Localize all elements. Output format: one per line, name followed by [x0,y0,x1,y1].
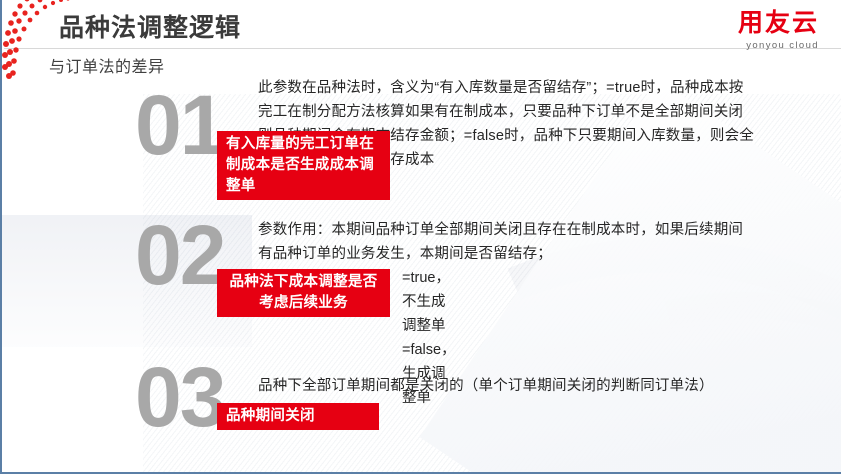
slide-canvas: 品种法调整逻辑 与订单法的差异 用友云 yonyou cloud 01 此参数在… [0,0,841,474]
brand-name-cn: 用友云 [738,11,819,36]
dotted-arc-icon [0,0,92,94]
header-divider [4,48,841,49]
block-number-01: 01 [135,83,224,167]
block-tag-02: 品种法下成本调整是否考虑后续业务 [217,269,390,317]
brand-logo: 用友云 yonyou cloud [738,11,819,51]
block-number-03: 03 [135,355,224,439]
block-tag-03: 品种期间关闭 [217,403,379,430]
slide-header: 品种法调整逻辑 与订单法的差异 [2,0,841,62]
brand-name-en: yonyou cloud [738,40,819,51]
block-body-03: 品种下全部订单期间都是关闭的（单个订单期间关闭的判断同订单法） [258,374,798,398]
block-number-02: 02 [135,213,224,297]
block-tag-01: 有入库量的完工订单在制成本是否生成成本调整单 [217,131,390,200]
block-value-true-02: =true，不生成调整单 [402,266,456,338]
block-body-02: 参数作用：本期间品种订单全部期间关闭且存在在制成本时，如果后续期间有品种订单的业… [258,218,748,266]
